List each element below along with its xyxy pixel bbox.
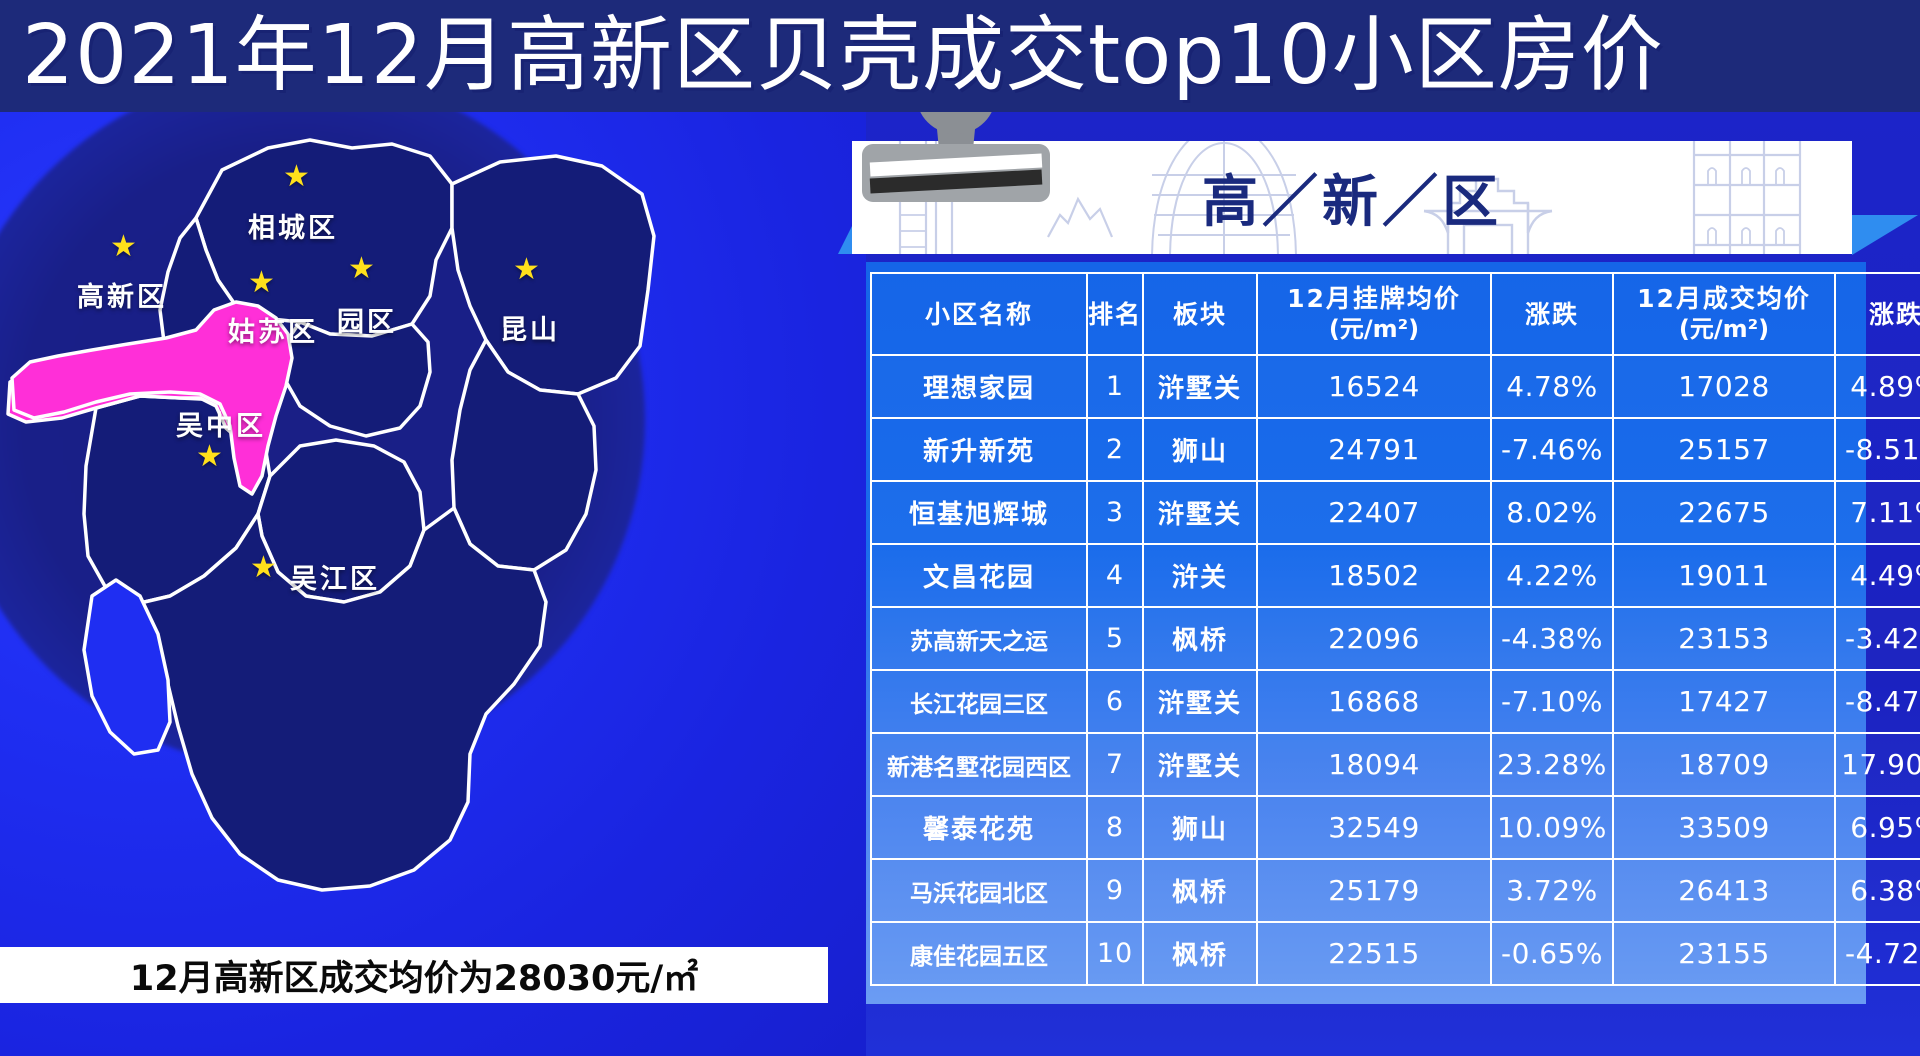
cell-block: 浒墅关 [1143, 481, 1257, 544]
cell-listing-change: 4.78% [1491, 355, 1613, 418]
cell-block: 枫桥 [1143, 859, 1257, 922]
map-star-gusu: ★ [248, 268, 278, 298]
cell-listing-price: 16868 [1257, 670, 1491, 733]
table-row: 康佳花园五区10枫桥22515-0.65%23155-4.72% [871, 922, 1920, 985]
column-header-listing-change: 涨跌 [1491, 273, 1613, 355]
cell-deal-change: -8.51% [1835, 418, 1920, 481]
cell-listing-price: 18094 [1257, 733, 1491, 796]
cell-deal-change: 6.38% [1835, 859, 1920, 922]
cell-rank: 5 [1087, 607, 1143, 670]
cell-deal-price: 19011 [1613, 544, 1835, 607]
map-star-xiangcheng: ★ [283, 162, 313, 192]
map-star-wuzhong: ★ [196, 442, 226, 472]
cell-block: 浒墅关 [1143, 670, 1257, 733]
cell-community-name: 康佳花园五区 [871, 922, 1087, 985]
cell-block: 浒墅关 [1143, 355, 1257, 418]
cell-rank: 3 [1087, 481, 1143, 544]
cell-listing-change: 8.02% [1491, 481, 1613, 544]
cell-rank: 7 [1087, 733, 1143, 796]
column-header-name: 小区名称 [871, 273, 1087, 355]
cell-listing-price: 24791 [1257, 418, 1491, 481]
cell-block: 浒关 [1143, 544, 1257, 607]
table-row: 马浜花园北区9枫桥251793.72%264136.38% [871, 859, 1920, 922]
cell-deal-change: -3.42% [1835, 607, 1920, 670]
cell-listing-price: 25179 [1257, 859, 1491, 922]
column-header-listing-price: 12月挂牌均价 (元/m²) [1257, 273, 1491, 355]
cell-rank: 10 [1087, 922, 1143, 985]
column-header-deal-price: 12月成交均价 (元/m²) [1613, 273, 1835, 355]
cell-community-name: 馨泰花苑 [871, 796, 1087, 859]
cell-rank: 9 [1087, 859, 1143, 922]
top10-price-table: 小区名称 排名 板块 12月挂牌均价 (元/m²) 涨跌 12月成交均价 (元/ [870, 272, 1920, 986]
map-label-gaoxin: 高新区 [77, 275, 167, 314]
cell-listing-price: 16524 [1257, 355, 1491, 418]
cell-listing-change: 4.22% [1491, 544, 1613, 607]
banner-triangle-right [1852, 215, 1918, 255]
cell-listing-change: -7.10% [1491, 670, 1613, 733]
cell-community-name: 理想家园 [871, 355, 1087, 418]
header-bar: 2021年12月高新区贝壳成交top10小区房价 [0, 0, 1920, 112]
page-title: 2021年12月高新区贝壳成交top10小区房价 [0, 12, 1664, 100]
cell-listing-price: 22407 [1257, 481, 1491, 544]
map-label-kunshan: 昆山 [500, 308, 560, 347]
map-star-wujiang: ★ [250, 553, 280, 583]
cell-community-name: 马浜花园北区 [871, 859, 1087, 922]
cell-deal-change: -8.47% [1835, 670, 1920, 733]
map-label-gusu: 姑苏区 [228, 310, 318, 349]
cell-rank: 6 [1087, 670, 1143, 733]
cell-community-name: 新港名墅花园西区 [871, 733, 1087, 796]
cell-rank: 1 [1087, 355, 1143, 418]
cell-listing-price: 32549 [1257, 796, 1491, 859]
table-row: 新港名墅花园西区7浒墅关1809423.28%1870917.90% [871, 733, 1920, 796]
column-header-deal-change: 涨跌 [1835, 273, 1920, 355]
cell-deal-price: 23153 [1613, 607, 1835, 670]
column-header-rank: 排名 [1087, 273, 1143, 355]
map-star-yuanqu: ★ [348, 254, 378, 284]
cell-deal-change: 7.11% [1835, 481, 1920, 544]
map-label-yuanqu: 园区 [337, 300, 397, 339]
cell-listing-price: 22515 [1257, 922, 1491, 985]
cell-listing-change: 10.09% [1491, 796, 1613, 859]
map-label-xiangcheng: 相城区 [248, 206, 338, 245]
map-label-wujiang: 吴江区 [290, 557, 380, 596]
table-row: 馨泰花苑8狮山3254910.09%335096.95% [871, 796, 1920, 859]
cell-listing-change: -0.65% [1491, 922, 1613, 985]
map-panel: ★ 相城区 ★ 高新区 ★ 姑苏区 ★ 园区 ★ 昆山 吴中区 ★ ★ 吴江区 [0, 110, 866, 1056]
cell-listing-price: 18502 [1257, 544, 1491, 607]
average-price-caption: 12月高新区成交均价为28030元/㎡ [130, 950, 698, 1001]
map-star-kunshan: ★ [513, 255, 543, 285]
cell-deal-price: 25157 [1613, 418, 1835, 481]
map-caption-bar: 12月高新区成交均价为28030元/㎡ [0, 947, 828, 1003]
cell-community-name: 文昌花园 [871, 544, 1087, 607]
table-row: 苏高新天之运5枫桥22096-4.38%23153-3.42% [871, 607, 1920, 670]
cell-deal-price: 17028 [1613, 355, 1835, 418]
map-star-gaoxin: ★ [110, 232, 140, 262]
cell-deal-price: 26413 [1613, 859, 1835, 922]
cell-deal-change: 4.89% [1835, 355, 1920, 418]
cell-deal-price: 18709 [1613, 733, 1835, 796]
cell-deal-change: 6.95% [1835, 796, 1920, 859]
cell-rank: 2 [1087, 418, 1143, 481]
cell-listing-change: -7.46% [1491, 418, 1613, 481]
table-row: 恒基旭辉城3浒墅关224078.02%226757.11% [871, 481, 1920, 544]
table-header-row: 小区名称 排名 板块 12月挂牌均价 (元/m²) 涨跌 12月成交均价 (元/ [871, 273, 1920, 355]
cell-listing-change: 23.28% [1491, 733, 1613, 796]
cell-rank: 4 [1087, 544, 1143, 607]
cell-block: 枫桥 [1143, 607, 1257, 670]
cell-block: 狮山 [1143, 418, 1257, 481]
cell-deal-change: 4.49% [1835, 544, 1920, 607]
table-row: 新升新苑2狮山24791-7.46%25157-8.51% [871, 418, 1920, 481]
cell-deal-price: 22675 [1613, 481, 1835, 544]
cell-listing-price: 22096 [1257, 607, 1491, 670]
table-body: 理想家园1浒墅关165244.78%170284.89%新升新苑2狮山24791… [871, 355, 1920, 985]
cell-block: 浒墅关 [1143, 733, 1257, 796]
cell-listing-change: -4.38% [1491, 607, 1613, 670]
cell-deal-price: 17427 [1613, 670, 1835, 733]
cell-community-name: 长江花园三区 [871, 670, 1087, 733]
cell-community-name: 新升新苑 [871, 418, 1087, 481]
cell-block: 狮山 [1143, 796, 1257, 859]
top10-table-panel: 小区名称 排名 板块 12月挂牌均价 (元/m²) 涨跌 12月成交均价 (元/ [866, 262, 1866, 1004]
table-row: 长江花园三区6浒墅关16868-7.10%17427-8.47% [871, 670, 1920, 733]
column-header-block: 板块 [1143, 273, 1257, 355]
cell-deal-change: -4.72% [1835, 922, 1920, 985]
table-row: 文昌花园4浒关185024.22%190114.49% [871, 544, 1920, 607]
map-label-wuzhong: 吴中区 [176, 404, 266, 443]
cell-deal-change: 17.90% [1835, 733, 1920, 796]
cell-listing-change: 3.72% [1491, 859, 1613, 922]
table-row: 理想家园1浒墅关165244.78%170284.89% [871, 355, 1920, 418]
cell-deal-price: 23155 [1613, 922, 1835, 985]
cell-deal-price: 33509 [1613, 796, 1835, 859]
cell-community-name: 恒基旭辉城 [871, 481, 1087, 544]
cell-rank: 8 [1087, 796, 1143, 859]
cell-block: 枫桥 [1143, 922, 1257, 985]
cell-community-name: 苏高新天之运 [871, 607, 1087, 670]
